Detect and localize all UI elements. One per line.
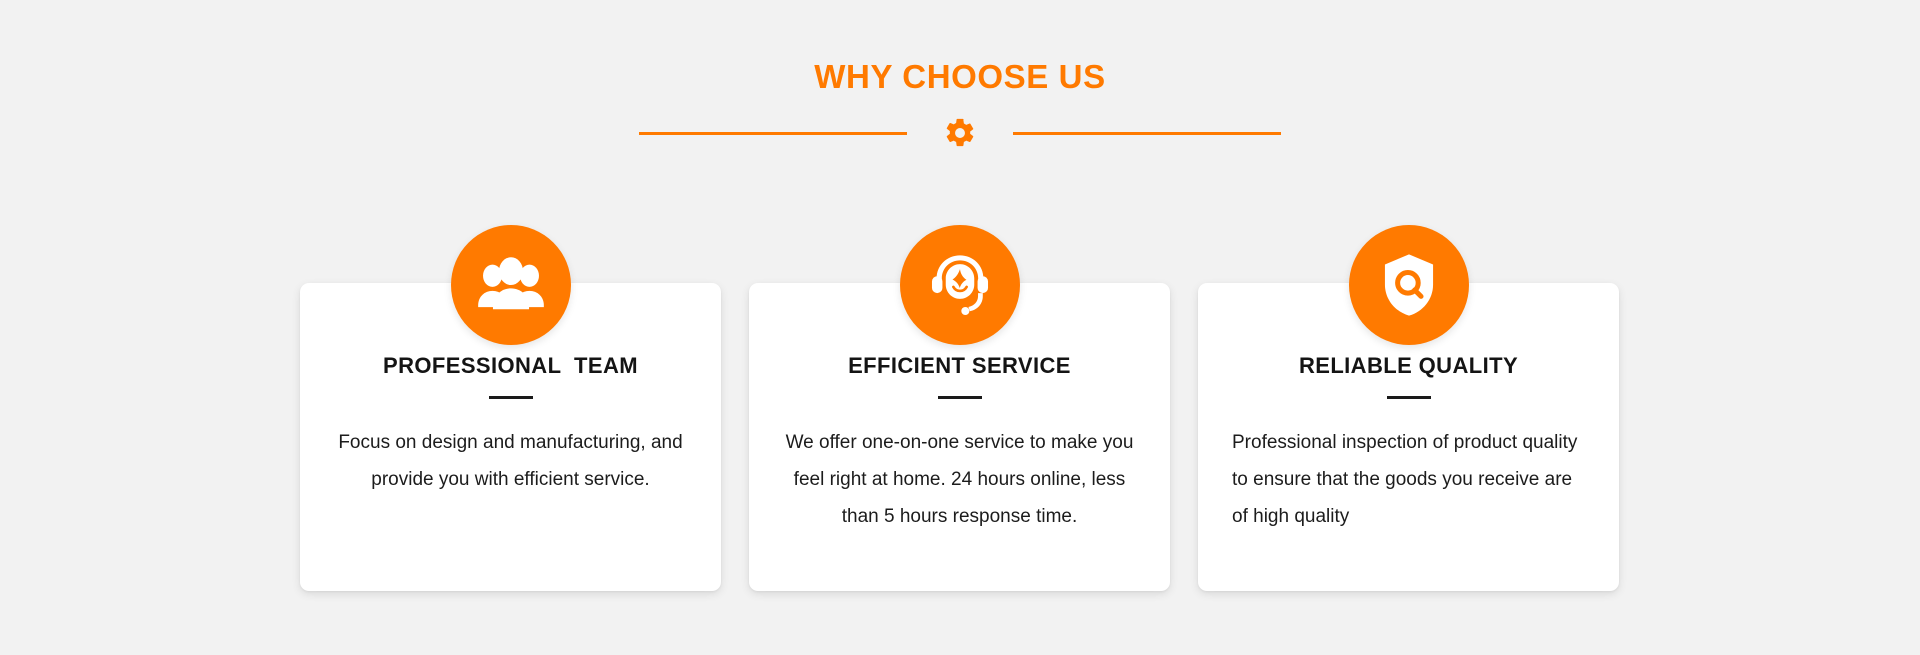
why-choose-us-section: WHY CHOOSE US [0,0,1920,655]
divider-line-right [1013,132,1281,135]
gear-icon [943,116,977,150]
feature-card-professional-team[interactable]: PROFESSIONAL TEAM Focus on design and ma… [300,283,721,591]
feature-card-efficient-service[interactable]: EFFICIENT SERVICE We offer one-on-one se… [749,283,1170,591]
title-divider [0,116,1920,150]
card-title-rule [489,396,533,399]
card-title: EFFICIENT SERVICE [783,353,1136,379]
card-title-rule [938,396,982,399]
card-title: RELIABLE QUALITY [1232,353,1585,379]
card-body: Professional inspection of product quali… [1232,424,1585,535]
card-title: PROFESSIONAL TEAM [334,353,687,379]
card-body: We offer one-on-one service to make you … [783,424,1136,535]
card-body: Focus on design and manufacturing, and p… [334,424,687,498]
team-people-icon [451,225,571,345]
divider-line-left [639,132,907,135]
shield-quality-icon [1349,225,1469,345]
card-title-rule [1387,396,1431,399]
section-header: WHY CHOOSE US [0,0,1920,150]
feature-card-reliable-quality[interactable]: RELIABLE QUALITY Professional inspection… [1198,283,1619,591]
feature-cards-row: PROFESSIONAL TEAM Focus on design and ma… [300,283,1620,591]
page-title: WHY CHOOSE US [0,57,1920,97]
headset-support-icon [900,225,1020,345]
gear-icon-wrapper [907,116,1013,150]
